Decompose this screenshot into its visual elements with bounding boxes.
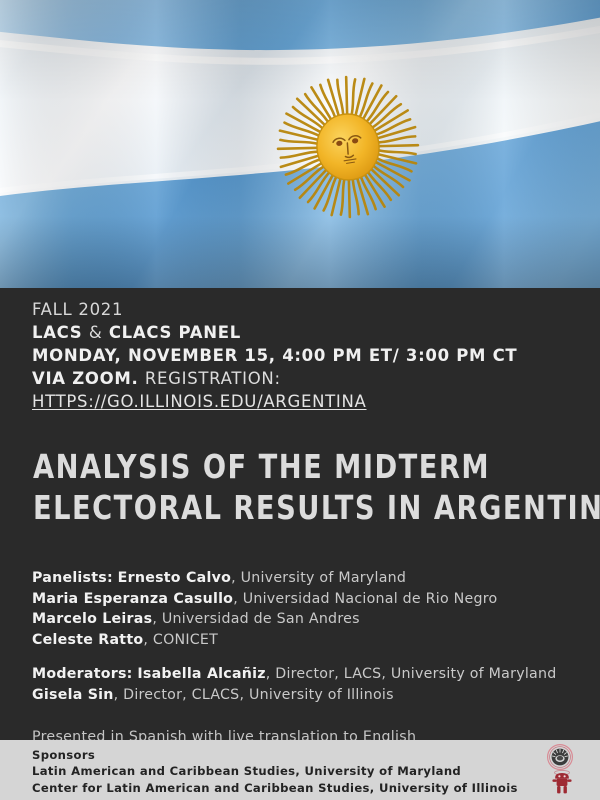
event-datetime: MONDAY, NOVEMBER 15, 4:00 PM ET/ 3:00 PM… — [32, 344, 577, 367]
panelist-row: Maria Esperanza Casullo, Universidad Nac… — [32, 589, 582, 610]
event-poster: FALL 2021 LACS & CLACS PANEL MONDAY, NOV… — [0, 0, 600, 800]
moderator-affiliation: Director, LACS, University of Maryland — [275, 666, 556, 682]
page-title: ANALYSIS OF THE MIDTERM ELECTORAL RESULT… — [33, 446, 578, 528]
sponsor-logos — [540, 740, 592, 800]
via-zoom-line: VIA ZOOM. REGISTRATION: — [32, 367, 577, 390]
panel-label: LACS & CLACS PANEL — [32, 321, 577, 344]
registration-url-link[interactable]: HTTPS://GO.ILLINOIS.EDU/ARGENTINA — [32, 390, 367, 413]
panelist-name: Marcelo Leiras — [32, 611, 152, 627]
moderator-row: Gisela Sin, Director, CLACS, University … — [32, 685, 582, 706]
panelist-name: Maria Esperanza Casullo — [32, 591, 233, 607]
panelist-name: Celeste Ratto — [32, 632, 143, 648]
sponsors-footer: Sponsors Latin American and Caribbean St… — [0, 740, 600, 800]
sponsors-text: Sponsors Latin American and Caribbean St… — [32, 747, 532, 796]
title-line-1: ANALYSIS OF THE MIDTERM — [33, 446, 534, 487]
panelist-row: Panelists: Ernesto Calvo, University of … — [32, 568, 582, 589]
section-spacer — [32, 650, 582, 664]
argentina-flag-image — [0, 0, 600, 288]
panelist-row: Marcelo Leiras, Universidad de San Andre… — [32, 609, 582, 630]
event-header: FALL 2021 LACS & CLACS PANEL MONDAY, NOV… — [32, 298, 577, 413]
panelist-name: Ernesto Calvo — [118, 570, 231, 586]
participants-section: Panelists: Ernesto Calvo, University of … — [32, 568, 582, 748]
poster-body: FALL 2021 LACS & CLACS PANEL MONDAY, NOV… — [0, 288, 600, 740]
sponsor-item: Latin American and Caribbean Studies, Un… — [32, 763, 532, 779]
panelist-affiliation: CONICET — [153, 632, 218, 648]
panel-prefix: LACS — [32, 323, 82, 342]
title-line-2: ELECTORAL RESULTS IN ARGENTINA — [33, 487, 534, 528]
moderator-name: Gisela Sin — [32, 687, 114, 703]
term-label: FALL 2021 — [32, 298, 577, 321]
panelist-affiliation: Universidad de San Andres — [162, 611, 360, 627]
panelist-affiliation: University of Maryland — [241, 570, 407, 586]
ampersand: & — [89, 323, 103, 342]
panelist-affiliation: Universidad Nacional de Rio Negro — [243, 591, 498, 607]
panelist-row: Celeste Ratto, CONICET — [32, 630, 582, 651]
note-spacer — [32, 705, 582, 727]
flag-graphic — [0, 0, 600, 288]
moderators-label: Moderators: — [32, 666, 133, 682]
sponsors-heading: Sponsors — [32, 747, 532, 763]
sponsor-item: Center for Latin American and Caribbean … — [32, 780, 532, 796]
illinois-clacs-logo — [550, 770, 574, 796]
moderator-row: Moderators: Isabella Alcañiz, Director, … — [32, 664, 582, 685]
via-zoom-label: VIA ZOOM. — [32, 369, 138, 388]
panelists-label: Panelists: — [32, 570, 113, 586]
moderator-name: Isabella Alcañiz — [137, 666, 265, 682]
umd-seal-logo — [546, 743, 574, 771]
panel-suffix: CLACS PANEL — [109, 323, 241, 342]
registration-label: REGISTRATION: — [145, 369, 281, 388]
moderator-affiliation: Director, CLACS, University of Illinois — [123, 687, 394, 703]
